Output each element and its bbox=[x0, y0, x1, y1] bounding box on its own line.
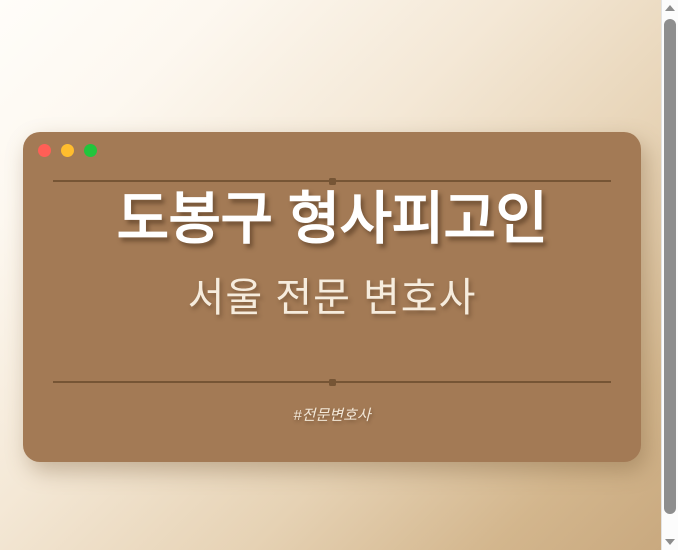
scroll-down-arrow-icon[interactable] bbox=[662, 534, 678, 550]
browser-viewport: 도봉구 형사피고인 서울 전문 변호사 #전문변호사 bbox=[0, 0, 678, 550]
page-canvas: 도봉구 형사피고인 서울 전문 변호사 #전문변호사 bbox=[0, 0, 661, 550]
page-title: 도봉구 형사피고인 bbox=[23, 190, 641, 250]
close-window-button[interactable] bbox=[38, 144, 51, 157]
divider-bottom bbox=[53, 381, 611, 383]
divider-dot-icon bbox=[329, 178, 336, 185]
triangle-up-icon bbox=[665, 5, 675, 11]
hashtag-label: #전문변호사 bbox=[23, 404, 641, 425]
presentation-card: 도봉구 형사피고인 서울 전문 변호사 #전문변호사 bbox=[23, 132, 641, 462]
triangle-down-icon bbox=[665, 539, 675, 545]
headline-block: 도봉구 형사피고인 서울 전문 변호사 bbox=[23, 190, 641, 320]
minimize-window-button[interactable] bbox=[61, 144, 74, 157]
divider-dot-icon bbox=[329, 379, 336, 386]
scrollbar-thumb[interactable] bbox=[664, 19, 676, 514]
window-controls bbox=[38, 144, 97, 157]
divider-top bbox=[53, 180, 611, 182]
vertical-scrollbar[interactable] bbox=[661, 0, 678, 550]
page-subtitle: 서울 전문 변호사 bbox=[23, 276, 641, 320]
scroll-up-arrow-icon[interactable] bbox=[662, 0, 678, 16]
maximize-window-button[interactable] bbox=[84, 144, 97, 157]
